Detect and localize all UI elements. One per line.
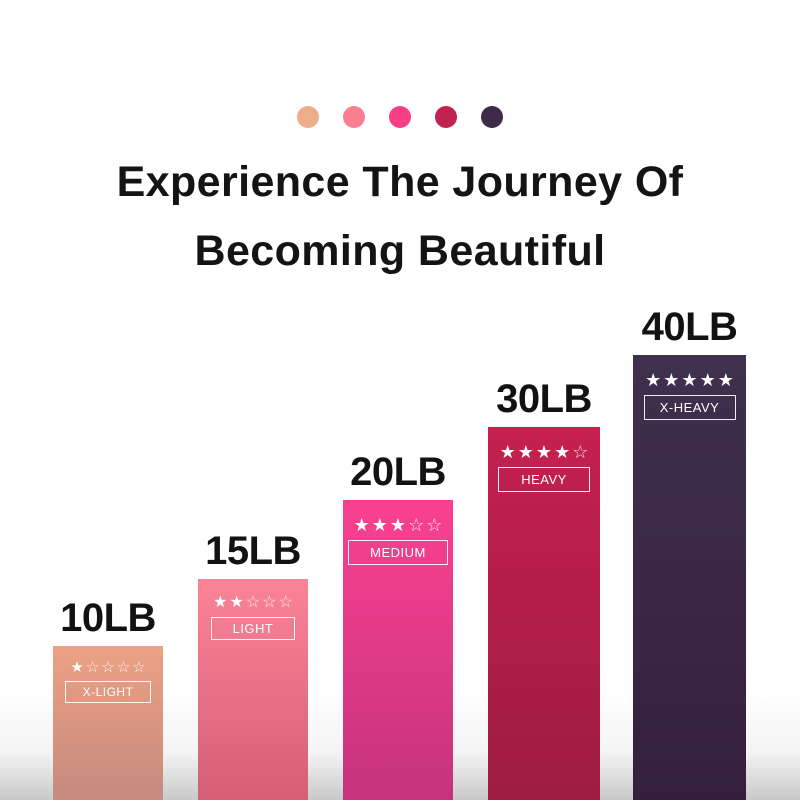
star-filled-icon: ★ bbox=[681, 371, 697, 389]
bar-badge: ★☆☆☆☆X-LIGHT bbox=[53, 660, 163, 703]
star-empty-icon: ☆ bbox=[426, 516, 442, 534]
star-filled-icon: ★ bbox=[718, 371, 734, 389]
star-rating: ★☆☆☆☆ bbox=[70, 660, 145, 675]
bar-group[interactable]: 30LB★★★★☆HEAVY bbox=[488, 367, 600, 800]
resistance-level-tag: HEAVY bbox=[498, 467, 590, 492]
star-filled-icon: ★ bbox=[229, 595, 243, 611]
resistance-level-tag: MEDIUM bbox=[348, 540, 448, 565]
star-filled-icon: ★ bbox=[213, 595, 227, 611]
star-filled-icon: ★ bbox=[645, 371, 661, 389]
resistance-level-tag: LIGHT bbox=[211, 617, 295, 640]
star-rating: ★★★☆☆ bbox=[354, 516, 443, 534]
star-filled-icon: ★ bbox=[390, 516, 406, 534]
star-empty-icon: ☆ bbox=[262, 595, 276, 611]
resistance-level-tag: X-LIGHT bbox=[65, 681, 151, 703]
star-filled-icon: ★ bbox=[700, 371, 716, 389]
bar-fill: ★★☆☆☆LIGHT bbox=[198, 579, 308, 800]
resistance-band-bar-chart: 10LB★☆☆☆☆X-LIGHT15LB★★☆☆☆LIGHT20LB★★★☆☆M… bbox=[0, 0, 800, 800]
product-infographic: Experience The Journey Of Becoming Beaut… bbox=[0, 0, 800, 800]
star-rating: ★★☆☆☆ bbox=[213, 595, 293, 611]
bar-group[interactable]: 40LB★★★★★X-HEAVY bbox=[633, 295, 746, 800]
star-empty-icon: ☆ bbox=[132, 660, 145, 675]
bar-value-label: 15LB bbox=[205, 531, 301, 571]
star-rating: ★★★★★ bbox=[645, 371, 734, 389]
star-rating: ★★★★☆ bbox=[500, 443, 589, 461]
bar-group[interactable]: 10LB★☆☆☆☆X-LIGHT bbox=[53, 586, 163, 800]
star-empty-icon: ☆ bbox=[408, 516, 424, 534]
star-filled-icon: ★ bbox=[372, 516, 388, 534]
star-filled-icon: ★ bbox=[70, 660, 83, 675]
bar-badge: ★★★★☆HEAVY bbox=[488, 443, 600, 492]
bar-fill: ★☆☆☆☆X-LIGHT bbox=[53, 646, 163, 800]
bar-fill: ★★★★★X-HEAVY bbox=[633, 355, 746, 800]
star-filled-icon: ★ bbox=[554, 443, 570, 461]
star-empty-icon: ☆ bbox=[117, 660, 130, 675]
star-filled-icon: ★ bbox=[354, 516, 370, 534]
star-filled-icon: ★ bbox=[536, 443, 552, 461]
star-filled-icon: ★ bbox=[500, 443, 516, 461]
star-empty-icon: ☆ bbox=[101, 660, 114, 675]
star-empty-icon: ☆ bbox=[86, 660, 99, 675]
bar-badge: ★★☆☆☆LIGHT bbox=[198, 595, 308, 640]
bar-fill: ★★★★☆HEAVY bbox=[488, 427, 600, 800]
bar-badge: ★★★★★X-HEAVY bbox=[633, 371, 746, 420]
resistance-level-tag: X-HEAVY bbox=[644, 395, 736, 420]
star-empty-icon: ☆ bbox=[279, 595, 293, 611]
bar-value-label: 30LB bbox=[496, 379, 592, 419]
bar-group[interactable]: 15LB★★☆☆☆LIGHT bbox=[198, 519, 308, 800]
bar-badge: ★★★☆☆MEDIUM bbox=[343, 516, 453, 565]
bar-value-label: 10LB bbox=[60, 598, 156, 638]
bar-value-label: 20LB bbox=[350, 452, 446, 492]
star-filled-icon: ★ bbox=[663, 371, 679, 389]
bar-value-label: 40LB bbox=[642, 307, 738, 347]
bar-group[interactable]: 20LB★★★☆☆MEDIUM bbox=[343, 440, 453, 800]
star-filled-icon: ★ bbox=[518, 443, 534, 461]
bar-fill: ★★★☆☆MEDIUM bbox=[343, 500, 453, 800]
star-empty-icon: ☆ bbox=[246, 595, 260, 611]
star-empty-icon: ☆ bbox=[572, 443, 588, 461]
